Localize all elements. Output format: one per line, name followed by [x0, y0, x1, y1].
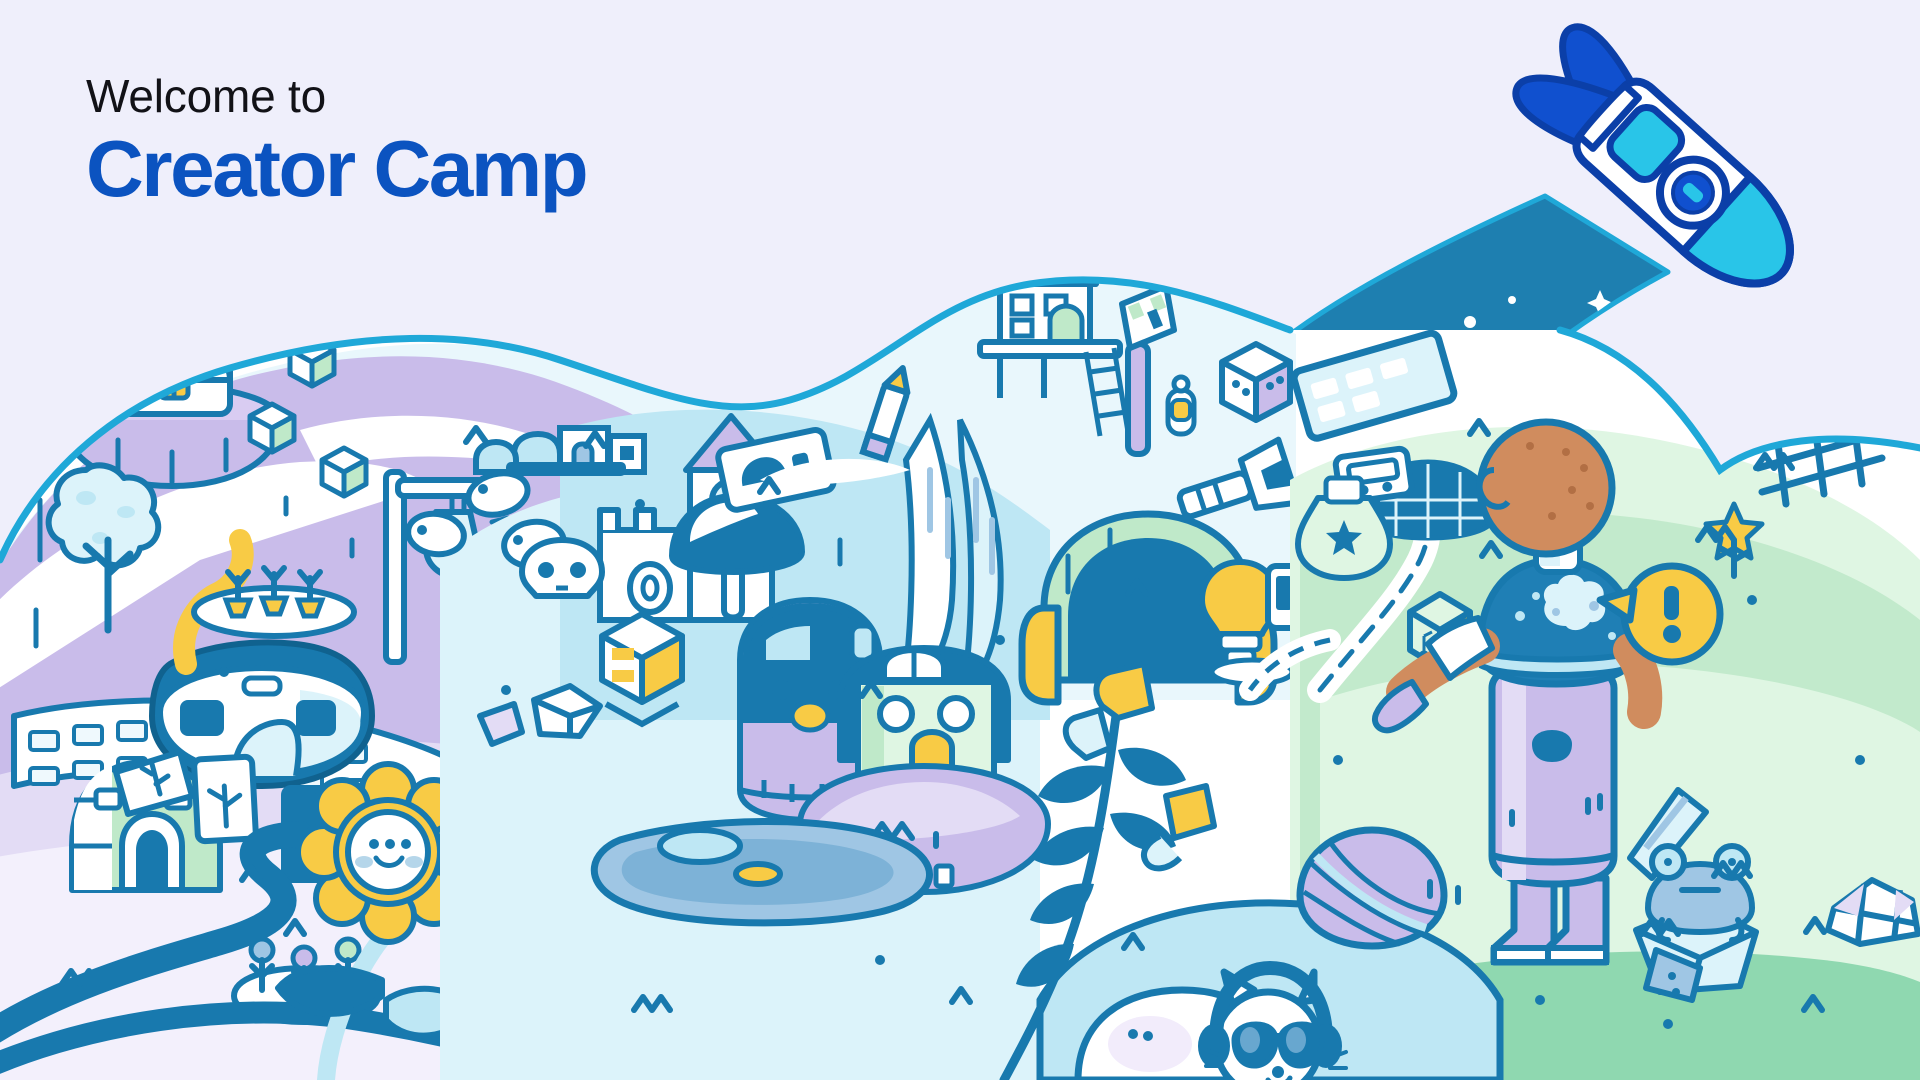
page-title: Creator Camp	[86, 128, 586, 210]
yarn-ball	[1300, 830, 1444, 946]
coin	[630, 564, 670, 612]
small-figure	[1168, 377, 1194, 434]
dice-cube	[1222, 344, 1290, 420]
banner-stage: Welcome to Creator Camp	[0, 0, 1920, 1080]
welcome-line: Welcome to	[86, 72, 586, 120]
hero-headline: Welcome to Creator Camp	[86, 72, 586, 210]
landscape	[0, 250, 1920, 1080]
